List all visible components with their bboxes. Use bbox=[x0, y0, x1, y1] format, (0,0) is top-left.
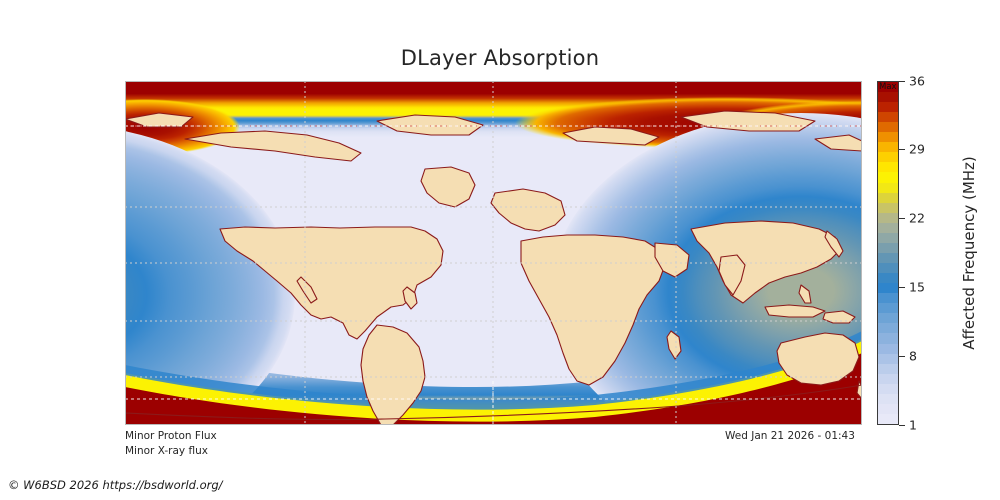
colorbar[interactable] bbox=[877, 81, 899, 425]
colorbar-step-4 bbox=[878, 374, 898, 384]
colorbar-step-30 bbox=[878, 112, 898, 122]
tick-label: 22 bbox=[909, 211, 925, 226]
tick-dash bbox=[899, 287, 905, 288]
map-svg bbox=[125, 81, 862, 425]
tick-dash bbox=[899, 149, 905, 150]
absorption-map[interactable] bbox=[125, 81, 862, 425]
colorbar-step-20 bbox=[878, 213, 898, 223]
colorbar-step-16 bbox=[878, 253, 898, 263]
colorbar-step-21 bbox=[878, 203, 898, 213]
colorbar-step-15 bbox=[878, 263, 898, 273]
figure-canvas: DLayer Absorption bbox=[0, 0, 1000, 500]
colorbar-step-12 bbox=[878, 293, 898, 303]
colorbar-step-9 bbox=[878, 323, 898, 333]
page-title: DLayer Absorption bbox=[0, 46, 1000, 70]
colorbar-step-6 bbox=[878, 354, 898, 364]
colorbar-step-0 bbox=[878, 414, 898, 424]
credit-line: © W6BSD 2026 https://bsdworld.org/ bbox=[8, 478, 223, 492]
tick-label: 29 bbox=[909, 142, 925, 157]
xray-flux-status: Minor X-ray flux bbox=[125, 444, 217, 459]
colorbar-step-11 bbox=[878, 303, 898, 313]
tick-label: 1 bbox=[909, 417, 917, 432]
colorbar-step-17 bbox=[878, 243, 898, 253]
colorbar-title: Affected Frequency (MHz) bbox=[960, 81, 978, 425]
colorbar-ticks: 1815222936 bbox=[899, 81, 969, 425]
colorbar-step-13 bbox=[878, 283, 898, 293]
proton-flux-status: Minor Proton Flux bbox=[125, 429, 217, 444]
timestamp: Wed Jan 21 2026 - 01:43 bbox=[725, 430, 855, 442]
colorbar-step-31 bbox=[878, 102, 898, 112]
colorbar-step-24 bbox=[878, 172, 898, 182]
tick-dash bbox=[899, 425, 905, 426]
tick-label: 36 bbox=[909, 73, 925, 88]
colorbar-step-2 bbox=[878, 394, 898, 404]
colorbar-step-23 bbox=[878, 183, 898, 193]
colorbar-step-28 bbox=[878, 132, 898, 142]
colorbar-step-3 bbox=[878, 384, 898, 394]
colorbar-step-8 bbox=[878, 333, 898, 343]
colorbar-step-32 bbox=[878, 92, 898, 102]
colorbar-step-7 bbox=[878, 344, 898, 354]
tick-dash bbox=[899, 356, 905, 357]
colorbar-step-26 bbox=[878, 152, 898, 162]
tick-label: 8 bbox=[909, 348, 917, 363]
colorbar-step-29 bbox=[878, 122, 898, 132]
colorbar-step-25 bbox=[878, 162, 898, 172]
colorbar-step-22 bbox=[878, 193, 898, 203]
tick-dash bbox=[899, 218, 905, 219]
tick-dash bbox=[899, 81, 905, 82]
colorbar-step-10 bbox=[878, 313, 898, 323]
colorbar-step-14 bbox=[878, 273, 898, 283]
colorbar-step-18 bbox=[878, 233, 898, 243]
colorbar-step-1 bbox=[878, 404, 898, 414]
colorbar-max-label: Max bbox=[879, 82, 897, 92]
colorbar-step-19 bbox=[878, 223, 898, 233]
flux-status: Minor Proton Flux Minor X-ray flux bbox=[125, 429, 217, 458]
colorbar-step-5 bbox=[878, 364, 898, 374]
tick-label: 15 bbox=[909, 279, 925, 294]
colorbar-step-27 bbox=[878, 142, 898, 152]
